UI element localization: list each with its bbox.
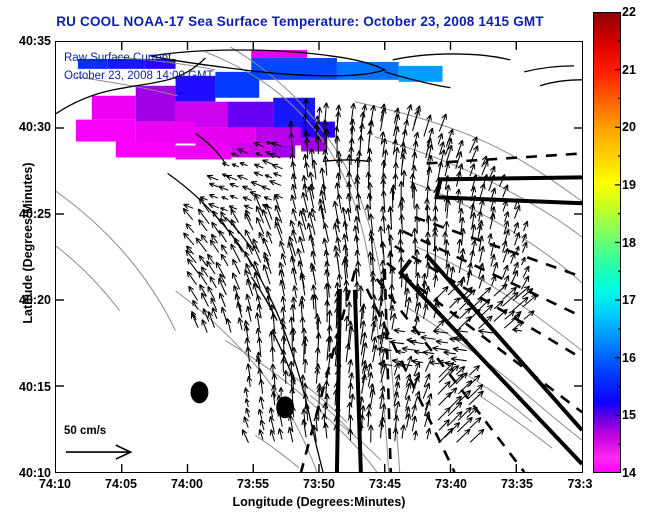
x-tick-8: 73:3 [567,477,592,491]
colorbar-tick-15: 15 [622,408,636,422]
y-tick-4: 40:15 [19,380,51,394]
x-tick-4: 73:50 [303,477,335,491]
x-tick-3: 73:55 [237,477,269,491]
vector-scale-arrow-icon [56,42,582,472]
y-axis-label: Latitude (Degrees:Minutes) [21,123,35,363]
x-tick-1: 74:05 [105,477,137,491]
figure-title: RU COOL NOAA-17 Sea Surface Temperature:… [0,14,600,29]
colorbar-tickmarks [593,12,621,473]
map-plot-area[interactable]: Raw Surface Current October 23, 2008 14:… [55,41,583,473]
colorbar-tick-22: 22 [622,5,636,19]
x-tick-6: 73:40 [435,477,467,491]
x-tick-5: 73:45 [369,477,401,491]
x-axis-ticks: 74:10 74:05 74:00 73:55 73:50 73:45 73:4… [0,477,651,495]
colorbar-tick-18: 18 [622,236,636,250]
y-tick-0: 40:35 [19,34,51,48]
x-tick-0: 74:10 [39,477,71,491]
colorbar-tick-14: 14 [622,466,636,480]
colorbar-tick-16: 16 [622,351,636,365]
colorbar-tick-17: 17 [622,293,636,307]
colorbar-tick-19: 19 [622,178,636,192]
colorbar-tick-21: 21 [622,63,636,77]
sst-map-figure: RU COOL NOAA-17 Sea Surface Temperature:… [0,0,651,518]
x-tick-7: 73:35 [501,477,533,491]
x-axis-label: Longitude (Degrees:Minutes) [55,495,583,509]
colorbar-tick-20: 20 [622,120,636,134]
colorbar-ticks: 222120191817161514 [593,12,651,473]
x-tick-2: 74:00 [171,477,203,491]
